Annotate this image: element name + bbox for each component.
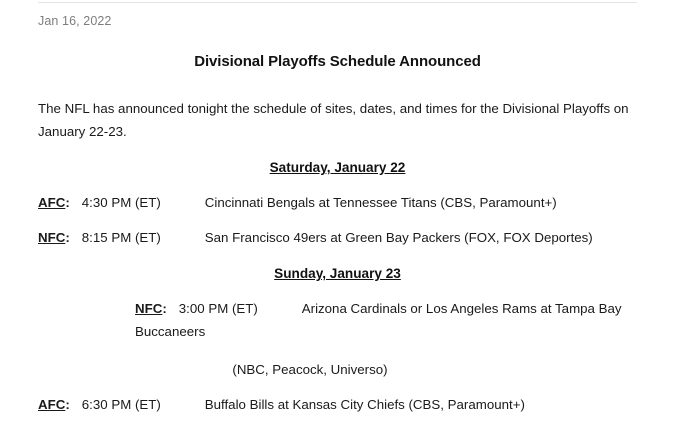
game-row: AFC:4:30 PM (ET)Cincinnati Bengals at Te… [38,191,637,214]
game-matchup: Cincinnati Bengals at Tennessee Titans (… [205,195,557,210]
day-heading-sunday: Sunday, January 23 [38,262,637,285]
conference-label: AFC [38,195,65,210]
game-row: NFC:3:00 PM (ET)Arizona Cardinals or Los… [135,297,637,343]
game-row: AFC:6:30 PM (ET)Buffalo Bills at Kansas … [38,393,637,416]
game-time: 4:30 PM (ET) [70,191,205,214]
publish-date: Jan 16, 2022 [38,0,637,29]
game-matchup: San Francisco 49ers at Green Bay Packers… [205,230,593,245]
day-heading-saturday: Saturday, January 22 [38,156,637,179]
game-row: NFC:8:15 PM (ET)San Francisco 49ers at G… [38,226,637,249]
broadcast-note: (NBC, Peacock, Universo) [38,358,582,381]
page-title: Divisional Playoffs Schedule Announced [38,52,637,72]
game-matchup: Buffalo Bills at Kansas City Chiefs (CBS… [205,397,525,412]
conference-label: AFC [38,397,65,412]
game-time: 6:30 PM (ET) [70,393,205,416]
intro-paragraph: The NFL has announced tonight the schedu… [38,97,637,143]
game-time: 3:00 PM (ET) [167,297,302,320]
game-time: 8:15 PM (ET) [70,226,205,249]
conference-label: NFC [135,301,162,316]
document-content: Jan 16, 2022 Divisional Playoffs Schedul… [38,0,637,416]
conference-label: NFC [38,230,65,245]
document-page: Jan 16, 2022 Divisional Playoffs Schedul… [0,0,700,424]
